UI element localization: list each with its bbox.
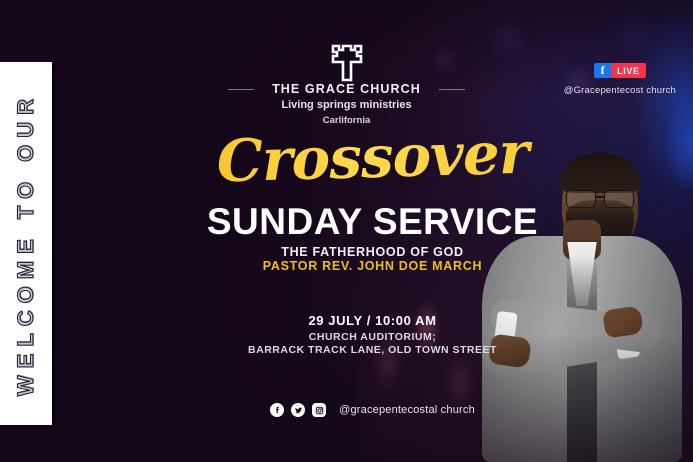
twitter-icon[interactable] xyxy=(291,403,305,417)
speaker-name: PASTOR REV. JOHN DOE MARCH xyxy=(52,259,693,273)
sermon-theme: THE FATHERHOOD OF GOD xyxy=(52,245,693,259)
church-name: THE GRACE CHURCH xyxy=(272,82,421,96)
page-title: SUNDAY SERVICE xyxy=(52,203,693,240)
social-footer: @gracepentecostal church xyxy=(52,403,693,417)
facebook-live-badge[interactable]: f LIVE xyxy=(594,63,645,78)
event-venue: CHURCH AUDITORIUM; xyxy=(52,331,693,343)
event-address: BARRACK TRACK LANE, OLD TOWN STREET xyxy=(52,344,693,356)
church-service-flyer: WELCOME TO OUR THE GRACE CHURCH Living s… xyxy=(0,0,693,462)
facebook-live-block: f LIVE @Gracepentecost church xyxy=(564,61,676,96)
facebook-icon: f xyxy=(594,63,611,78)
social-handle: @gracepentecostal church xyxy=(339,404,475,416)
event-datetime: 29 JULY / 10:00 AM xyxy=(52,313,693,328)
instagram-icon[interactable] xyxy=(312,403,326,417)
divider-dash-right xyxy=(439,89,465,90)
facebook-handle: @Gracepentecost church xyxy=(564,85,676,96)
facebook-icon[interactable] xyxy=(270,403,284,417)
cross-icon xyxy=(330,44,364,87)
live-label: LIVE xyxy=(611,63,645,78)
divider-dash-left xyxy=(228,89,254,90)
ministry-name: Living springs ministries xyxy=(0,99,693,111)
welcome-vertical-text: WELCOME TO OUR xyxy=(13,91,39,395)
